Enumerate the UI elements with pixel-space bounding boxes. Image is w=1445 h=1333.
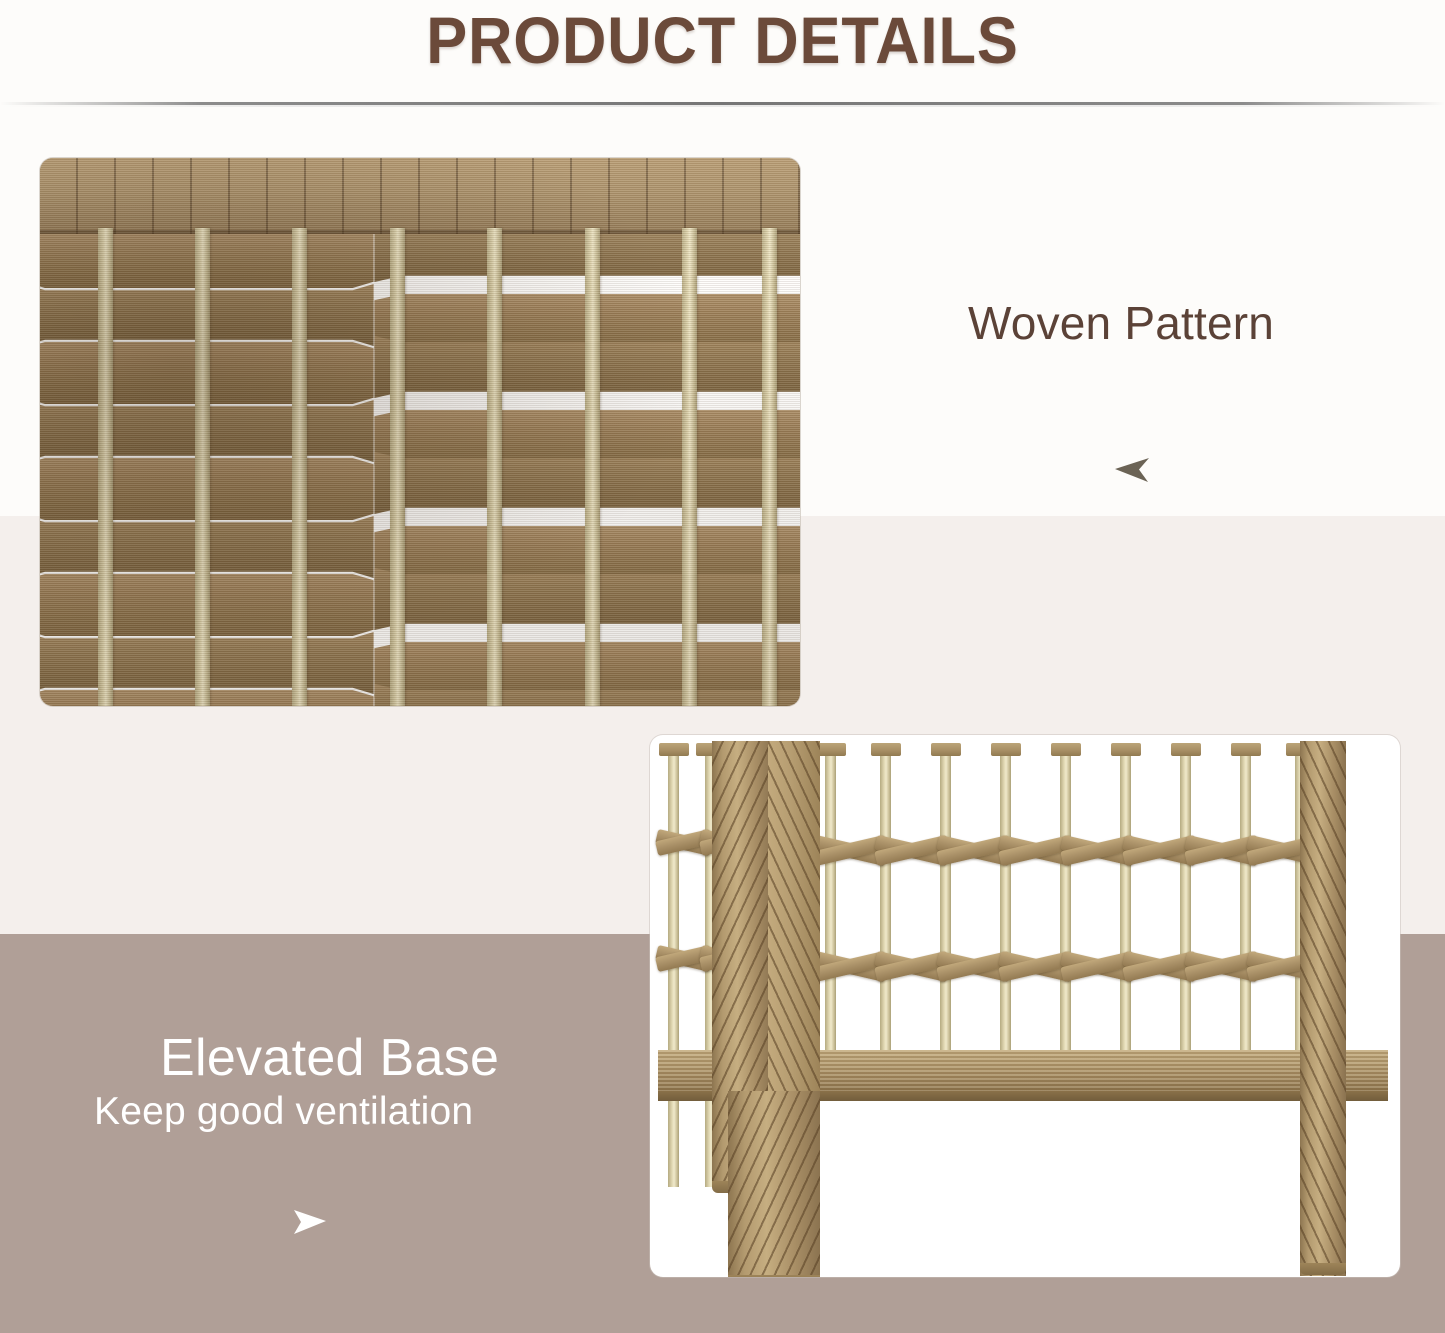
base-vertical-post — [1000, 747, 1011, 1057]
base-post-cap — [659, 743, 689, 756]
weave-top-cap — [40, 158, 800, 234]
elevated-base-subtitle: Keep good ventilation — [94, 1090, 499, 1134]
base-left-leg-foot — [728, 1275, 820, 1277]
weave-vertical-post — [98, 228, 113, 706]
base-vertical-post — [1120, 747, 1131, 1057]
post-texture — [728, 1091, 820, 1277]
woven-pattern-label: Woven Pattern — [968, 296, 1274, 350]
base-post-cap — [1171, 743, 1201, 756]
base-left-leg — [728, 1091, 820, 1277]
elevated-base-image — [650, 735, 1400, 1277]
elevated-base-title: Elevated Base — [160, 1030, 499, 1086]
arrow-left-icon — [1113, 455, 1153, 485]
base-right-leg — [1300, 741, 1346, 1276]
header-divider-highlight — [0, 105, 1445, 107]
weave-vertical-post — [762, 228, 777, 706]
weave-vertical-post — [292, 228, 307, 706]
page-title: PRODUCT DETAILS — [51, 2, 1395, 78]
base-vertical-post — [940, 747, 951, 1057]
base-post-cap — [931, 743, 961, 756]
base-post-cap — [991, 743, 1021, 756]
base-vertical-post — [1240, 747, 1251, 1057]
weave-vertical-post — [682, 228, 697, 706]
base-vertical-post — [825, 747, 836, 1057]
elevated-base-label-group: Elevated Base Keep good ventilation — [160, 1030, 499, 1134]
base-post-cap — [1051, 743, 1081, 756]
post-texture — [1300, 741, 1346, 1276]
base-right-leg-foot — [1300, 1263, 1346, 1275]
base-post-cap — [1231, 743, 1261, 756]
base-post-cap — [871, 743, 901, 756]
base-vertical-post — [1180, 747, 1191, 1057]
woven-pattern-image — [40, 158, 800, 706]
base-vertical-post — [880, 747, 891, 1057]
base-post-cap — [1111, 743, 1141, 756]
arrow-right-icon — [288, 1206, 328, 1238]
base-vertical-post — [1060, 747, 1071, 1057]
weave-vertical-post — [487, 228, 502, 706]
weave-vertical-post — [585, 228, 600, 706]
base-post-cap — [816, 743, 846, 756]
weave-vertical-post — [195, 228, 210, 706]
weave-vertical-post — [390, 228, 405, 706]
weave-cap-ticks — [40, 158, 800, 234]
